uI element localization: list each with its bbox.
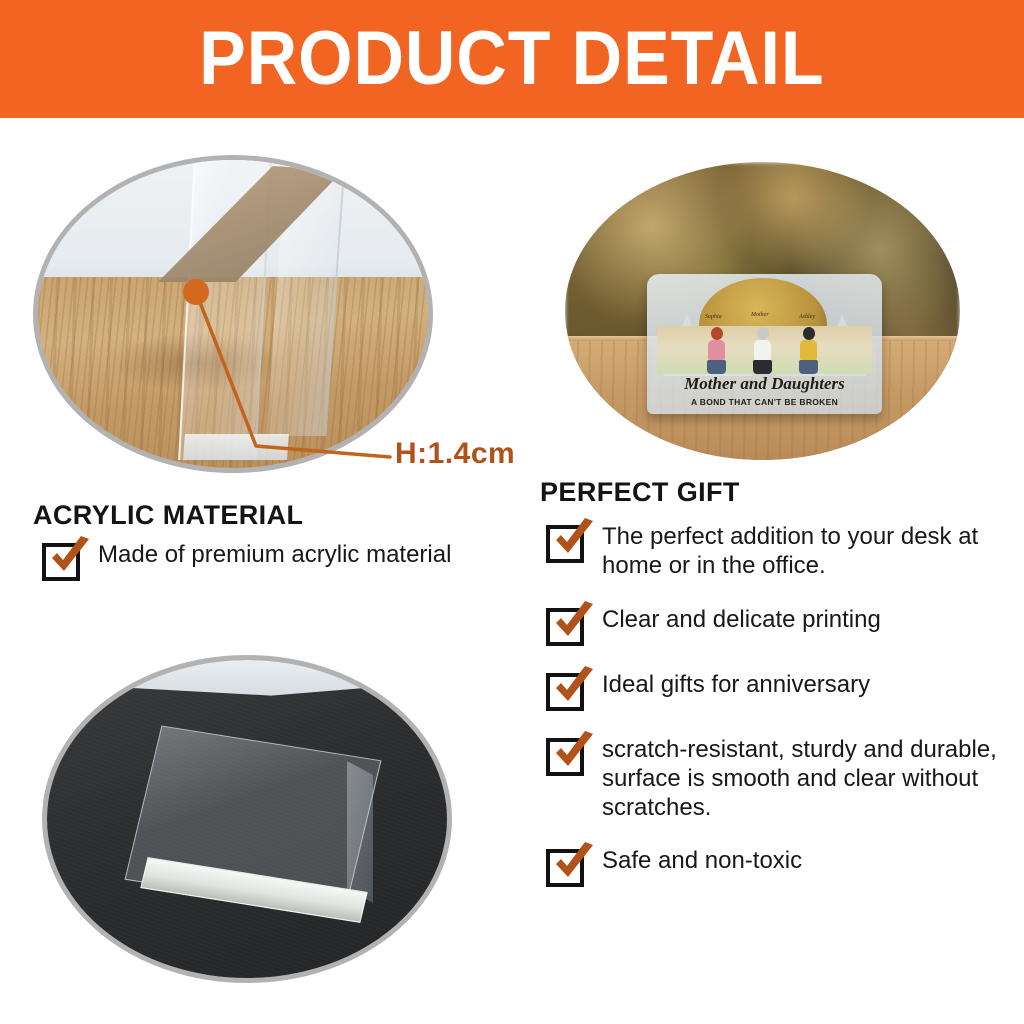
thickness-dimension-label: H:1.4cm [395, 437, 515, 471]
checkmark-icon [546, 673, 584, 711]
checkmark-icon [546, 849, 584, 887]
section-heading-acrylic-material: ACRYLIC MATERIAL [33, 500, 303, 531]
list-item-label: The perfect addition to your desk at hom… [602, 522, 1006, 581]
figure-mother [753, 327, 772, 374]
list-item: Safe and non-toxic [546, 846, 1006, 887]
figure-daughter-1 [707, 327, 726, 374]
mom-acrylic-plaque: Sophia Mother Ashley Mother and Daughter… [647, 274, 882, 414]
list-item-label: Made of premium acrylic material [98, 540, 451, 569]
name-tag-1: Sophia [705, 314, 722, 320]
acrylic-block-photo [42, 655, 452, 983]
checkmark-icon [546, 608, 584, 646]
plaque-subtitle-text: A BOND THAT CAN'T BE BROKEN [647, 397, 882, 407]
list-item-label: Clear and delicate printing [602, 605, 881, 634]
list-item: Ideal gifts for anniversary [546, 670, 1006, 711]
mom-plaque-photo: Sophia Mother Ashley Mother and Daughter… [565, 162, 960, 460]
page-title: PRODUCT DETAIL [199, 21, 824, 97]
plaque-title-text: Mother and Daughters [647, 374, 882, 394]
header-banner: PRODUCT DETAIL [0, 0, 1024, 118]
acrylic-block-right-face [347, 761, 373, 903]
list-item: scratch-resistant, sturdy and durable, s… [546, 735, 1006, 823]
name-tag-2: Mother [751, 312, 769, 318]
list-item-label: scratch-resistant, sturdy and durable, s… [602, 735, 1006, 823]
name-tag-3: Ashley [799, 314, 815, 320]
acrylic-edge-photo [33, 155, 433, 473]
list-item: Made of premium acrylic material [42, 540, 512, 581]
list-item-label: Safe and non-toxic [602, 846, 802, 875]
list-item-label: Ideal gifts for anniversary [602, 670, 870, 699]
list-item: The perfect addition to your desk at hom… [546, 522, 1006, 581]
acrylic-material-checklist: Made of premium acrylic material [42, 540, 512, 605]
checkmark-icon [42, 543, 80, 581]
acrylic-slab-base [183, 434, 289, 460]
perfect-gift-checklist: The perfect addition to your desk at hom… [546, 522, 1006, 911]
list-item: Clear and delicate printing [546, 605, 1006, 646]
checkmark-icon [546, 525, 584, 563]
figure-daughter-2 [799, 327, 818, 374]
section-heading-perfect-gift: PERFECT GIFT [540, 477, 740, 508]
checkmark-icon [546, 738, 584, 776]
